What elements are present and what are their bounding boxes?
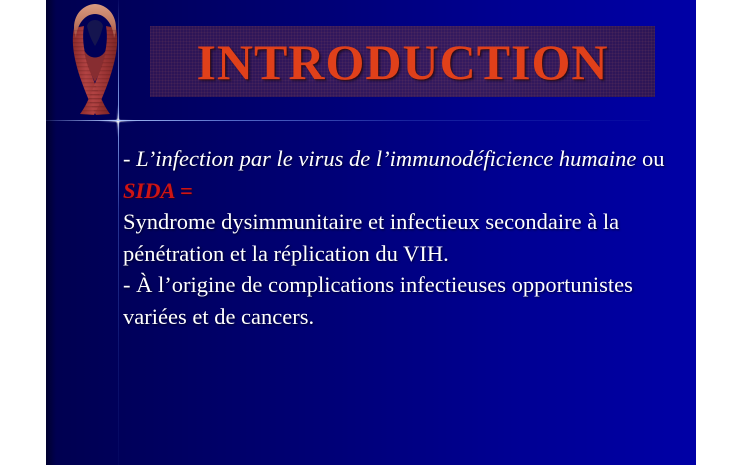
slide-root: INTRODUCTION - L’infection par le virus …: [0, 0, 750, 465]
body-paragraph-3: - À l’origine de complications infectieu…: [123, 269, 688, 332]
definition-italic-text: L’infection par le virus de l’immunodéfi…: [136, 146, 636, 171]
slide-canvas: INTRODUCTION - L’infection par le virus …: [46, 0, 696, 465]
bullet-dash-1: -: [123, 146, 136, 171]
sida-accent-text: SIDA =: [123, 178, 193, 203]
body-paragraph-1: - L’infection par le virus de l’immunodé…: [123, 143, 688, 206]
aids-ribbon-icon: [60, 2, 130, 118]
conjunction-text: ou: [636, 146, 664, 171]
title-plaque: INTRODUCTION: [150, 26, 655, 97]
horizontal-rule-decoration: [46, 120, 650, 121]
left-edge-shading: [46, 0, 56, 465]
page-title: INTRODUCTION: [196, 37, 608, 87]
body-paragraph-2: Syndrome dysimmunitaire et infectieux se…: [123, 206, 688, 269]
body-content: - L’infection par le virus de l’immunodé…: [123, 143, 688, 332]
